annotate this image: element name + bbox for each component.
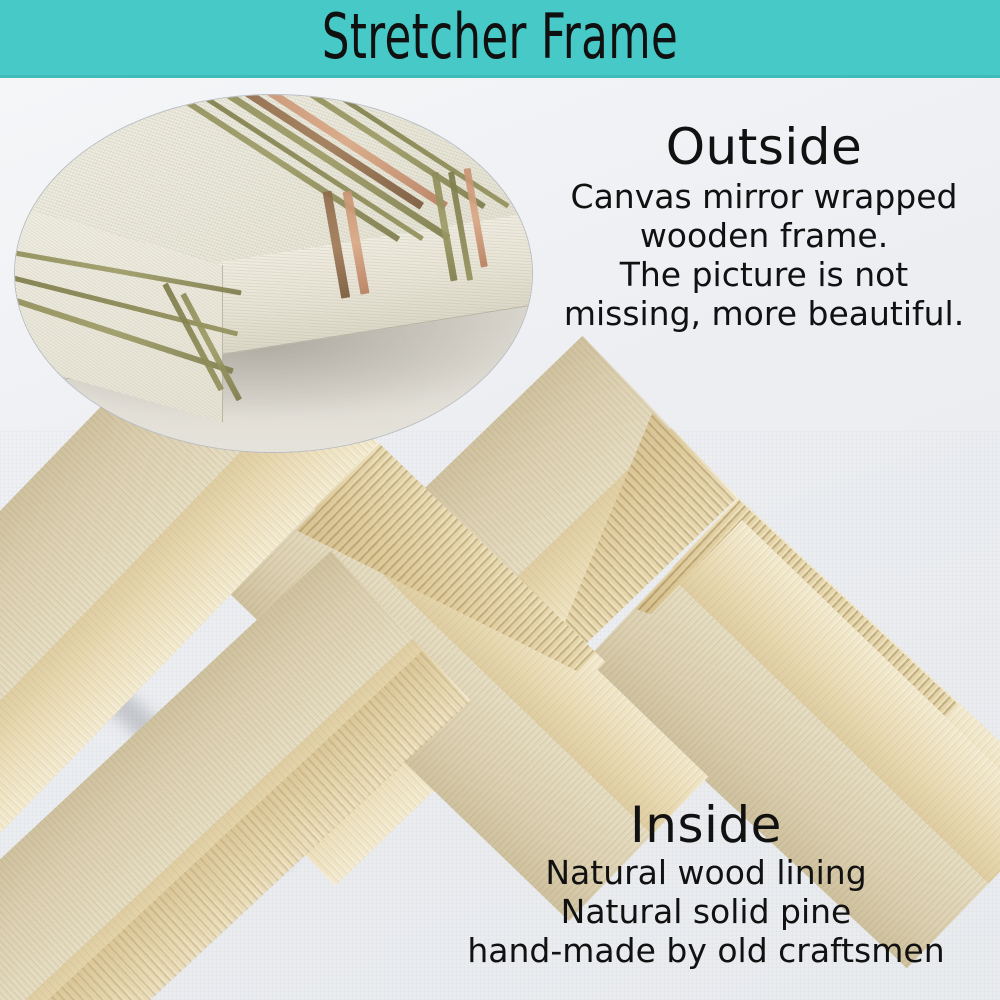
callout-outside: Outside Canvas mirror wrapped wooden fra… <box>530 122 998 334</box>
oval-photo-scene <box>15 95 532 452</box>
callout-outside-line-4: missing, more beautiful. <box>530 295 998 334</box>
callout-inside-heading: Inside <box>412 800 1000 850</box>
callout-outside-line-1: Canvas mirror wrapped <box>530 178 998 217</box>
callout-inside-line-3: hand-made by old craftsmen <box>412 932 1000 971</box>
stretcher-frame-infographic: Stretcher Frame Outside Canvas mirror wr… <box>0 0 1000 1000</box>
header-banner: Stretcher Frame <box>0 0 1000 78</box>
callout-inside: Inside Natural wood lining Natural solid… <box>412 800 1000 971</box>
page-title: Stretcher Frame <box>110 0 890 78</box>
canvas-wrapped-frame-corner-closeup <box>14 94 533 453</box>
callout-inside-line-1: Natural wood lining <box>412 854 1000 893</box>
callout-outside-line-2: wooden frame. <box>530 217 998 256</box>
callout-outside-heading: Outside <box>530 122 998 172</box>
callout-inside-line-2: Natural solid pine <box>412 893 1000 932</box>
callout-outside-line-3: The picture is not <box>530 256 998 295</box>
